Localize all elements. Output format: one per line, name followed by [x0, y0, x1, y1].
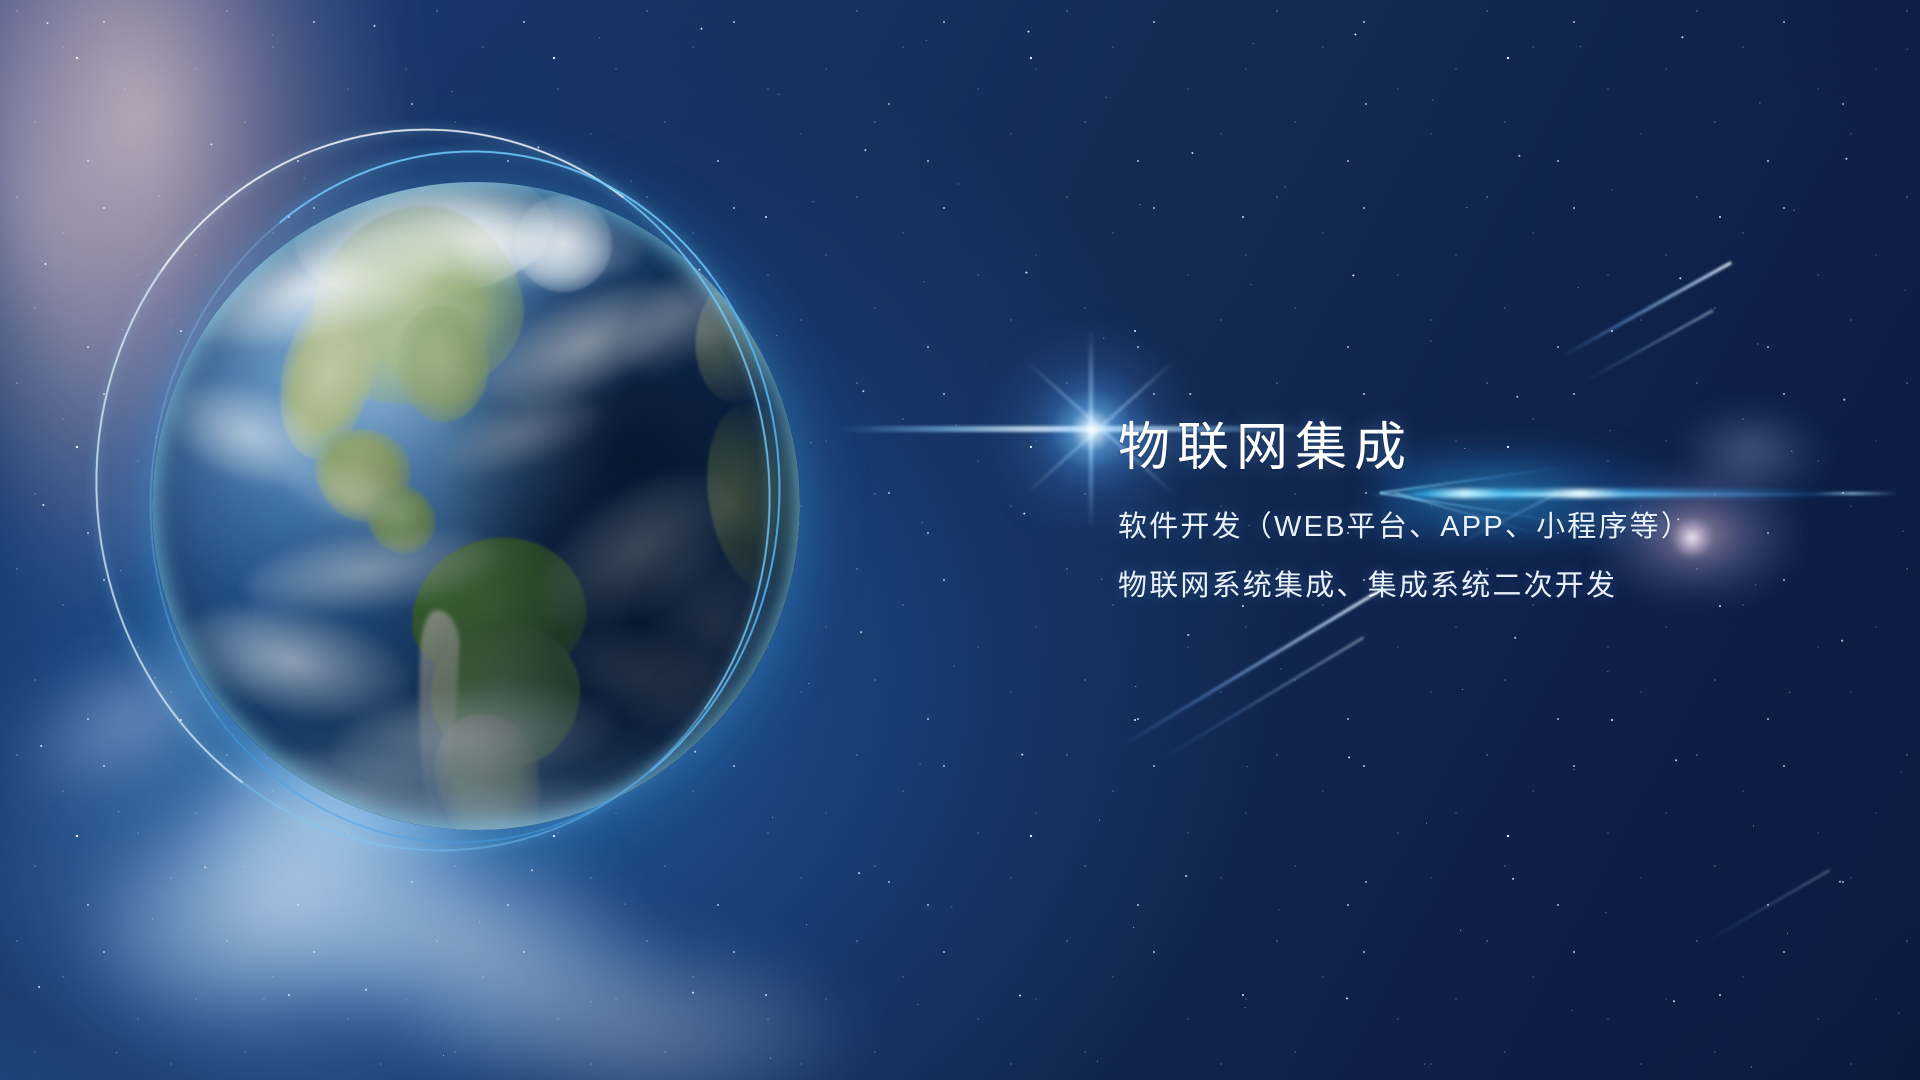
banner-stage: 物联网集成 软件开发（WEB平台、APP、小程序等） 物联网系统集成、集成系统二… [0, 0, 1920, 1080]
page-title: 物联网集成 [1118, 418, 1858, 479]
globe-bottom-mist-fade [152, 700, 800, 830]
subtitle-line-1: 软件开发（WEB平台、APP、小程序等） [1118, 513, 1858, 542]
starburst-flare-ray [1089, 330, 1093, 528]
earth-globe [152, 182, 800, 830]
subtitle-line-2: 物联网系统集成、集成系统二次开发 [1118, 572, 1858, 601]
banner-text-block: 物联网集成 软件开发（WEB平台、APP、小程序等） 物联网系统集成、集成系统二… [1118, 418, 1858, 601]
globe-sphere [152, 182, 800, 830]
